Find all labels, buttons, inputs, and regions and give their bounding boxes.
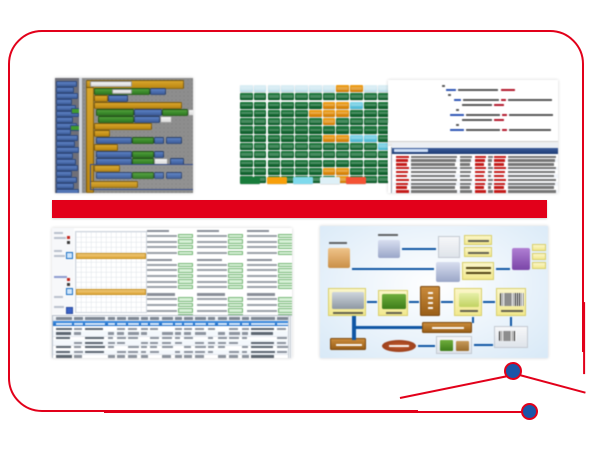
status-cell[interactable] <box>350 151 363 158</box>
note-row <box>147 245 193 249</box>
status-cell[interactable] <box>364 93 377 100</box>
status-cell[interactable] <box>295 168 308 175</box>
log-row[interactable] <box>393 190 558 193</box>
status-cell[interactable] <box>268 168 281 175</box>
code-editor[interactable] <box>388 80 558 143</box>
slide-canvas <box>0 0 600 450</box>
status-cell-grid[interactable] <box>240 85 390 183</box>
gantt-bar[interactable] <box>76 253 146 259</box>
note-row <box>147 268 193 272</box>
status-cell[interactable] <box>336 151 349 158</box>
status-cell[interactable] <box>240 110 253 117</box>
status-cell[interactable] <box>281 168 294 175</box>
status-cell[interactable] <box>364 135 377 142</box>
note-row <box>197 308 243 312</box>
gantt-bar[interactable] <box>76 289 146 295</box>
status-cell[interactable] <box>268 102 281 109</box>
status-cell[interactable] <box>281 126 294 133</box>
status-cell[interactable] <box>323 160 336 167</box>
note-row <box>147 263 193 267</box>
status-cell[interactable] <box>254 151 267 158</box>
legend-warning <box>267 177 287 184</box>
status-cell[interactable] <box>336 126 349 133</box>
status-cell[interactable] <box>350 93 363 100</box>
red-divider-banner <box>52 200 547 218</box>
arrow-barcode-to-scanner <box>510 317 512 326</box>
note-group <box>147 230 193 255</box>
node-putaway[interactable] <box>436 336 472 354</box>
selection-outline <box>90 164 193 190</box>
status-cell[interactable] <box>295 110 308 117</box>
status-cell[interactable] <box>254 168 267 175</box>
status-cell[interactable] <box>323 118 336 125</box>
status-cell[interactable] <box>254 143 267 150</box>
node-supplier-truck[interactable] <box>328 288 366 316</box>
status-cell[interactable] <box>364 126 377 133</box>
arrow-archive-to-records <box>496 268 510 270</box>
status-cell[interactable] <box>295 143 308 150</box>
status-cell[interactable] <box>295 160 308 167</box>
note-row <box>197 279 243 283</box>
status-cell[interactable] <box>364 85 377 92</box>
status-cell[interactable] <box>254 135 267 142</box>
note-row <box>247 245 292 249</box>
arrow-quality-to-barcode <box>483 301 495 303</box>
note-row <box>197 297 243 301</box>
status-cell[interactable] <box>281 85 294 92</box>
status-cell[interactable] <box>281 110 294 117</box>
status-cell[interactable] <box>323 85 336 92</box>
status-cell[interactable] <box>295 118 308 125</box>
planner-panel[interactable] <box>52 228 292 358</box>
status-cell[interactable] <box>336 93 349 100</box>
note-row <box>247 279 292 283</box>
status-cell[interactable] <box>281 93 294 100</box>
status-cell[interactable] <box>350 143 363 150</box>
status-cell[interactable] <box>268 110 281 117</box>
note-row <box>197 234 243 238</box>
status-cell[interactable] <box>254 85 267 92</box>
status-cell[interactable] <box>336 160 349 167</box>
status-cell[interactable] <box>240 85 253 92</box>
status-cell[interactable] <box>350 102 363 109</box>
arrow-up-to-truck <box>352 316 356 340</box>
status-cell[interactable] <box>364 118 377 125</box>
status-cell[interactable] <box>350 85 363 92</box>
status-cell[interactable] <box>254 110 267 117</box>
node-complete[interactable] <box>382 340 416 352</box>
status-cell[interactable] <box>309 118 322 125</box>
blocks-editor-panel[interactable] <box>55 78 193 193</box>
frame-diagonal-lower <box>104 411 524 413</box>
status-cell[interactable] <box>240 126 253 133</box>
status-cell[interactable] <box>240 151 253 158</box>
note-row <box>197 274 243 278</box>
status-cell[interactable] <box>350 135 363 142</box>
note-row <box>197 285 243 289</box>
operator-label <box>329 242 347 244</box>
gantt-row-header[interactable] <box>52 228 74 314</box>
node-report-a[interactable] <box>532 244 546 251</box>
status-cell[interactable] <box>268 160 281 167</box>
frame-right-edge <box>583 302 585 374</box>
arrow-scanner-to-putaway <box>474 344 493 346</box>
note-row <box>147 303 193 307</box>
status-cell[interactable] <box>254 93 267 100</box>
status-cell[interactable] <box>364 160 377 167</box>
status-cell[interactable] <box>336 118 349 125</box>
note-row <box>247 308 292 312</box>
status-cell[interactable] <box>350 110 363 117</box>
legend-idle <box>320 177 340 184</box>
status-cell[interactable] <box>281 102 294 109</box>
legend-error <box>346 177 366 184</box>
status-cell[interactable] <box>281 118 294 125</box>
status-cell[interactable] <box>309 85 322 92</box>
note-group <box>197 259 243 289</box>
node-archive[interactable] <box>462 262 494 280</box>
status-cell[interactable] <box>323 135 336 142</box>
node-shelving[interactable] <box>420 286 440 316</box>
status-cell[interactable] <box>254 118 267 125</box>
note-row <box>147 251 193 255</box>
status-cell[interactable] <box>336 102 349 109</box>
status-cell[interactable] <box>336 143 349 150</box>
note-group <box>147 259 193 289</box>
node-scanner[interactable] <box>494 326 528 348</box>
status-cell[interactable] <box>254 102 267 109</box>
code-log-panel[interactable] <box>388 80 558 193</box>
note-row <box>197 251 243 255</box>
note-row <box>197 303 243 307</box>
status-cell[interactable] <box>350 160 363 167</box>
status-cell[interactable] <box>309 93 322 100</box>
inspection-station-icon <box>378 240 400 258</box>
arrow-shelving-to-quality <box>441 301 453 303</box>
status-cell[interactable] <box>268 118 281 125</box>
note-row <box>147 285 193 289</box>
arrow-truck-to-unloading <box>367 301 377 303</box>
node-system[interactable] <box>464 247 492 257</box>
status-cell[interactable] <box>281 151 294 158</box>
note-row <box>247 274 292 278</box>
status-cell[interactable] <box>309 110 322 117</box>
note-row <box>247 263 292 267</box>
status-cell[interactable] <box>350 168 363 175</box>
status-cell[interactable] <box>323 151 336 158</box>
status-cell[interactable] <box>295 102 308 109</box>
gantt-timeline-grid[interactable] <box>75 231 147 313</box>
status-cell[interactable] <box>309 168 322 175</box>
note-row <box>147 297 193 301</box>
node-reject-warehouse[interactable] <box>330 338 366 350</box>
status-cell[interactable] <box>281 135 294 142</box>
status-cell[interactable] <box>309 102 322 109</box>
status-cell[interactable] <box>336 110 349 117</box>
records-icon <box>512 248 530 270</box>
status-cell[interactable] <box>268 85 281 92</box>
status-cell[interactable] <box>323 110 336 117</box>
upper-node-dot <box>504 362 522 380</box>
status-cell[interactable] <box>240 135 253 142</box>
node-terminal[interactable] <box>438 236 460 258</box>
data-table[interactable] <box>52 315 292 358</box>
note-row <box>197 239 243 243</box>
node-check-list[interactable] <box>464 235 492 245</box>
status-cell[interactable] <box>364 168 377 175</box>
blocks-palette[interactable] <box>55 78 79 193</box>
status-cell[interactable] <box>268 151 281 158</box>
status-cell[interactable] <box>281 160 294 167</box>
note-columns <box>147 230 292 312</box>
status-cell[interactable] <box>323 126 336 133</box>
lower-node-dot <box>521 403 538 420</box>
status-cell[interactable] <box>364 151 377 158</box>
arrow-quality-to-rejectarea <box>472 317 474 323</box>
status-legend <box>240 177 366 184</box>
workstation-icon <box>436 262 460 282</box>
status-cell[interactable] <box>309 160 322 167</box>
note-row <box>147 274 193 278</box>
status-cell[interactable] <box>240 102 253 109</box>
flowchart-panel[interactable] <box>320 226 548 358</box>
note-group <box>197 230 243 255</box>
note-row <box>147 279 193 283</box>
note-row <box>247 303 292 307</box>
status-cell[interactable] <box>268 93 281 100</box>
status-cell[interactable] <box>309 135 322 142</box>
status-cell[interactable] <box>336 85 349 92</box>
note-row <box>147 239 193 243</box>
status-cell[interactable] <box>240 160 253 167</box>
legend-info <box>293 177 313 184</box>
note-row <box>247 268 292 272</box>
log-console[interactable] <box>391 147 558 193</box>
node-report-b[interactable] <box>532 253 546 260</box>
arrow-inspection-to-terminal <box>402 248 436 250</box>
status-cell[interactable] <box>254 160 267 167</box>
status-cell[interactable] <box>295 151 308 158</box>
status-cell[interactable] <box>295 85 308 92</box>
status-cell[interactable] <box>323 102 336 109</box>
note-row <box>247 234 292 238</box>
arrow-operator-to-workstation <box>352 268 434 270</box>
node-reject-area[interactable] <box>422 322 472 333</box>
gantt-board[interactable] <box>52 228 292 314</box>
status-cell[interactable] <box>295 135 308 142</box>
status-cell[interactable] <box>350 118 363 125</box>
note-row <box>247 285 292 289</box>
log-console-header <box>392 148 558 154</box>
status-cell[interactable] <box>268 135 281 142</box>
status-cell[interactable] <box>240 93 253 100</box>
node-report-c[interactable] <box>532 262 546 269</box>
table-row[interactable] <box>53 354 292 358</box>
status-cell[interactable] <box>323 93 336 100</box>
status-cell[interactable] <box>309 126 322 133</box>
blocks-canvas[interactable] <box>82 78 193 193</box>
note-row <box>147 234 193 238</box>
node-barcode-label[interactable] <box>496 288 526 316</box>
note-row <box>247 297 292 301</box>
status-cell[interactable] <box>364 102 377 109</box>
status-grid-panel[interactable] <box>238 85 390 195</box>
status-cell[interactable] <box>336 135 349 142</box>
status-cell[interactable] <box>350 126 363 133</box>
status-cell[interactable] <box>309 151 322 158</box>
status-cell[interactable] <box>240 143 253 150</box>
status-cell[interactable] <box>281 143 294 150</box>
note-row <box>247 239 292 243</box>
status-cell[interactable] <box>295 93 308 100</box>
status-cell[interactable] <box>240 168 253 175</box>
arrow-rejectarea-to-left <box>354 326 422 329</box>
arrow-putaway-to-complete <box>418 345 435 347</box>
note-group <box>247 230 292 255</box>
status-cell[interactable] <box>295 126 308 133</box>
status-cell[interactable] <box>268 126 281 133</box>
status-cell[interactable] <box>254 126 267 133</box>
note-row <box>247 251 292 255</box>
node-quality-check[interactable] <box>454 288 482 316</box>
node-unloading[interactable] <box>378 290 408 316</box>
status-cell[interactable] <box>336 168 349 175</box>
status-cell[interactable] <box>240 118 253 125</box>
operator-icon <box>328 248 350 268</box>
table-selected-row[interactable] <box>53 321 292 326</box>
status-cell[interactable] <box>323 168 336 175</box>
note-group <box>247 259 292 289</box>
arrow-unloading-to-shelving <box>409 301 419 303</box>
note-row <box>197 263 243 267</box>
inspection-label <box>378 234 398 236</box>
note-row <box>197 268 243 272</box>
status-cell[interactable] <box>364 143 377 150</box>
status-cell[interactable] <box>309 143 322 150</box>
status-cell[interactable] <box>364 110 377 117</box>
status-cell[interactable] <box>323 143 336 150</box>
note-row <box>197 245 243 249</box>
note-row <box>147 308 193 312</box>
table-side-buttons[interactable] <box>290 315 292 358</box>
legend-normal <box>240 177 260 184</box>
status-cell[interactable] <box>268 143 281 150</box>
